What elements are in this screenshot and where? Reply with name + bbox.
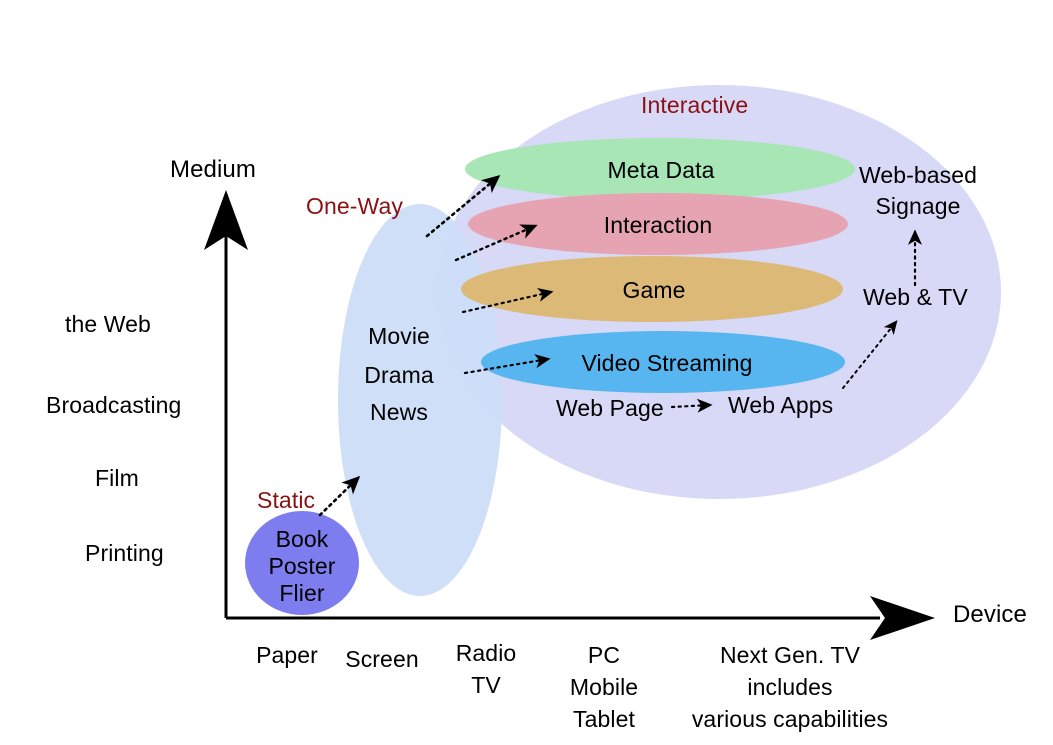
x-tick-next-gen-tv: Next Gen. TV — [720, 641, 860, 669]
x-tick-various-capabilities: various capabilities — [692, 705, 888, 733]
diagram-graphics — [0, 0, 1053, 745]
x-tick-pc: PC — [588, 641, 620, 669]
x-axis-label: Device — [953, 600, 1027, 629]
x-tick-mobile: Mobile — [570, 673, 638, 701]
static-bubble-line-flier: Flier — [279, 579, 324, 607]
zone-label-static: Static — [257, 486, 315, 514]
label-web-based-signage-line2: Signage — [875, 192, 960, 220]
static-bubble-line-poster: Poster — [268, 552, 335, 580]
oneway-bubble-line-drama: Drama — [364, 361, 434, 389]
zone-label-one-way: One-Way — [306, 192, 403, 220]
label-web-based-signage-line1: Web-based — [859, 161, 977, 189]
label-web-page: Web Page — [556, 394, 664, 422]
band-label-game: Game — [622, 276, 685, 304]
static-bubble-line-book: Book — [276, 525, 329, 553]
x-tick-paper: Paper — [256, 641, 318, 669]
diagram-canvas: Medium Device the Web Broadcasting Film … — [0, 0, 1053, 745]
band-label-meta-data: Meta Data — [607, 156, 714, 184]
oneway-bubble-line-news: News — [370, 398, 428, 426]
y-tick-printing: Printing — [85, 539, 164, 567]
x-tick-tv: TV — [471, 671, 501, 699]
band-label-interaction: Interaction — [604, 211, 713, 239]
x-tick-includes: includes — [747, 673, 832, 701]
x-tick-tablet: Tablet — [573, 705, 635, 733]
label-web-and-tv: Web & TV — [863, 283, 968, 311]
x-tick-screen: Screen — [345, 645, 418, 673]
oneway-bubble-line-movie: Movie — [368, 322, 430, 350]
x-tick-radio: Radio — [456, 639, 517, 667]
y-tick-the-web: the Web — [65, 310, 151, 338]
y-tick-film: Film — [95, 464, 139, 492]
zone-label-interactive: Interactive — [641, 91, 748, 119]
y-tick-broadcasting: Broadcasting — [46, 391, 181, 419]
y-axis-label: Medium — [170, 155, 256, 184]
band-label-video-streaming: Video Streaming — [581, 349, 752, 377]
label-web-apps: Web Apps — [728, 391, 833, 419]
